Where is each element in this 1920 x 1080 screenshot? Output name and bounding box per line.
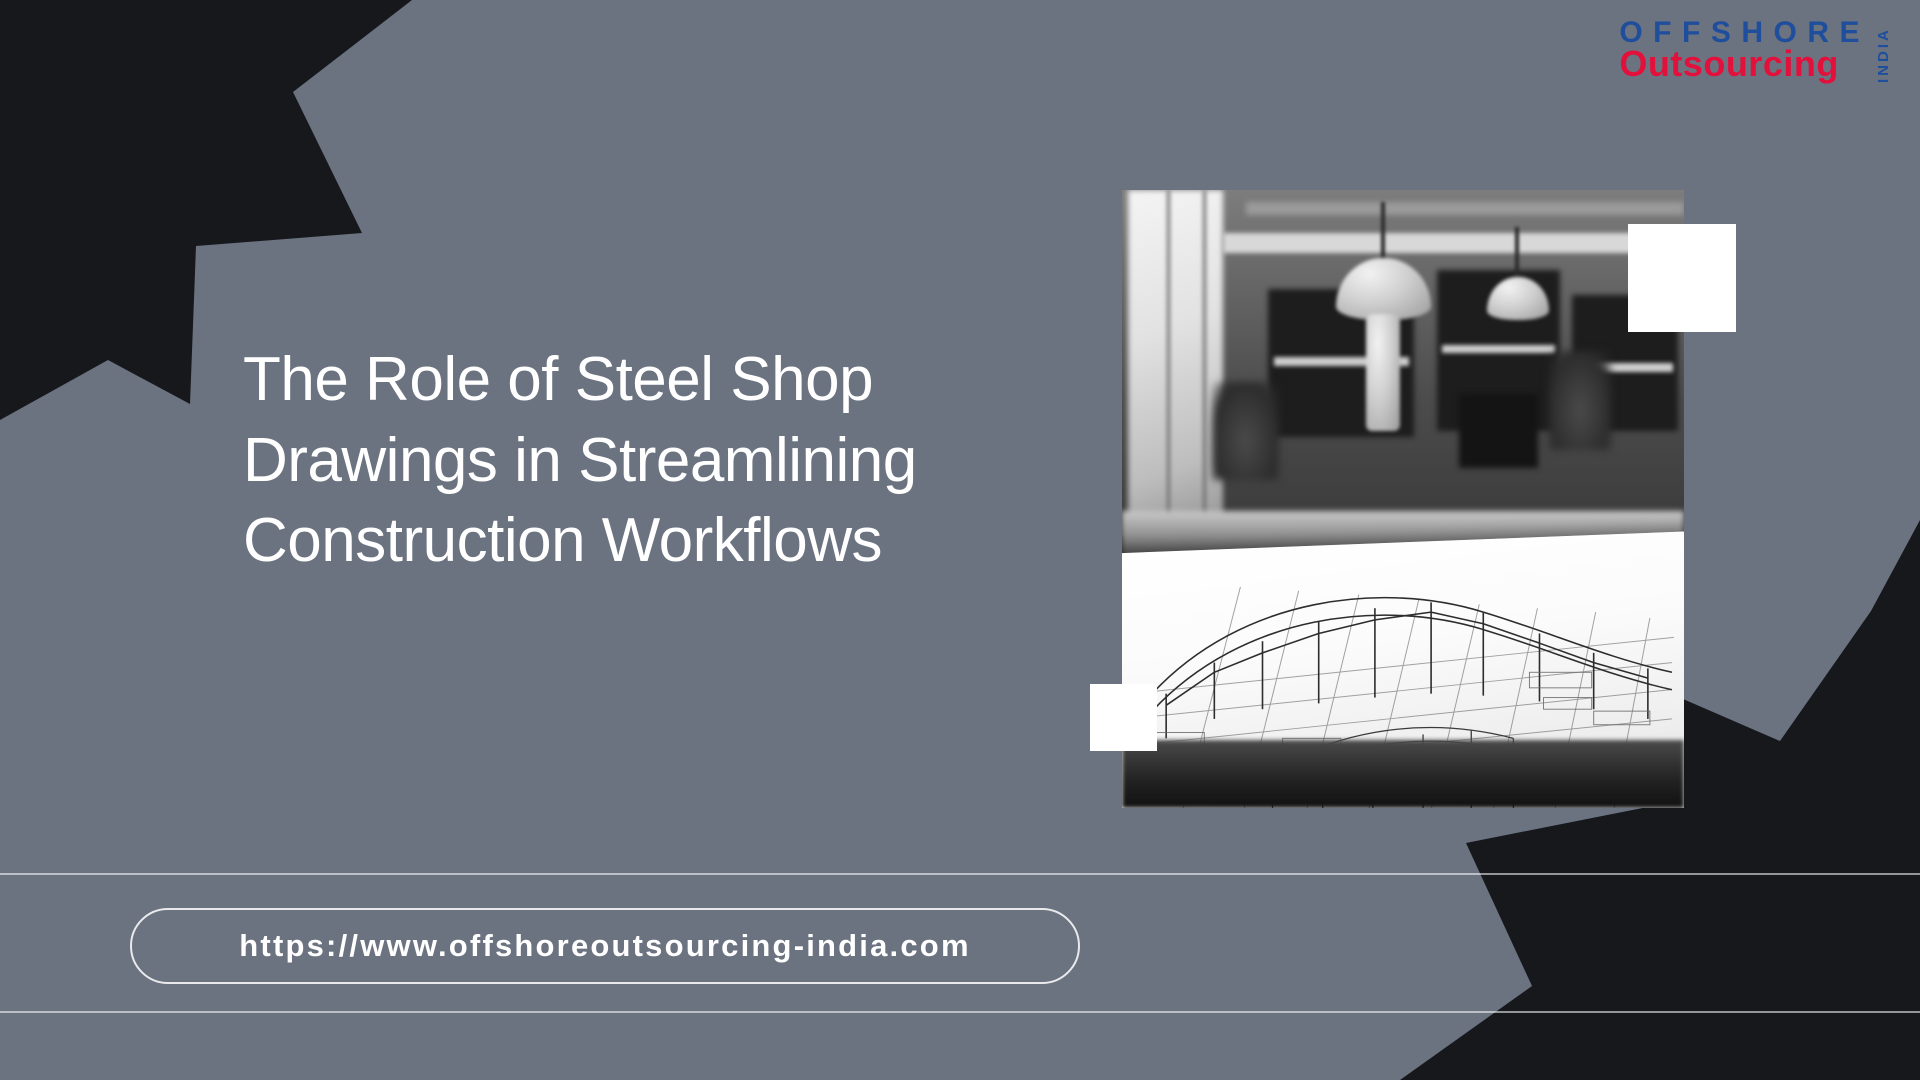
- logo-india-text: INDIA: [1875, 21, 1892, 83]
- brand-logo[interactable]: OFFSHORE Outsourcing INDIA: [1619, 18, 1892, 83]
- divider-line-top: [0, 873, 1920, 875]
- page-title: The Role of Steel Shop Drawings in Strea…: [243, 340, 1093, 582]
- divider-line-bottom: [0, 1011, 1920, 1013]
- website-url-text: https://www.offshoreoutsourcing-india.co…: [239, 928, 970, 964]
- accent-square-top-right: [1628, 224, 1736, 332]
- logo-outsourcing-text: Outsourcing: [1619, 46, 1839, 82]
- studio-photo: [1122, 190, 1684, 808]
- website-url-pill[interactable]: https://www.offshoreoutsourcing-india.co…: [130, 908, 1080, 984]
- hero-image: [1122, 190, 1684, 808]
- accent-square-bottom-left: [1090, 684, 1157, 751]
- slide-canvas: OFFSHORE Outsourcing INDIA The Role of S…: [0, 0, 1920, 1080]
- logo-wordmark: OFFSHORE Outsourcing: [1619, 18, 1870, 82]
